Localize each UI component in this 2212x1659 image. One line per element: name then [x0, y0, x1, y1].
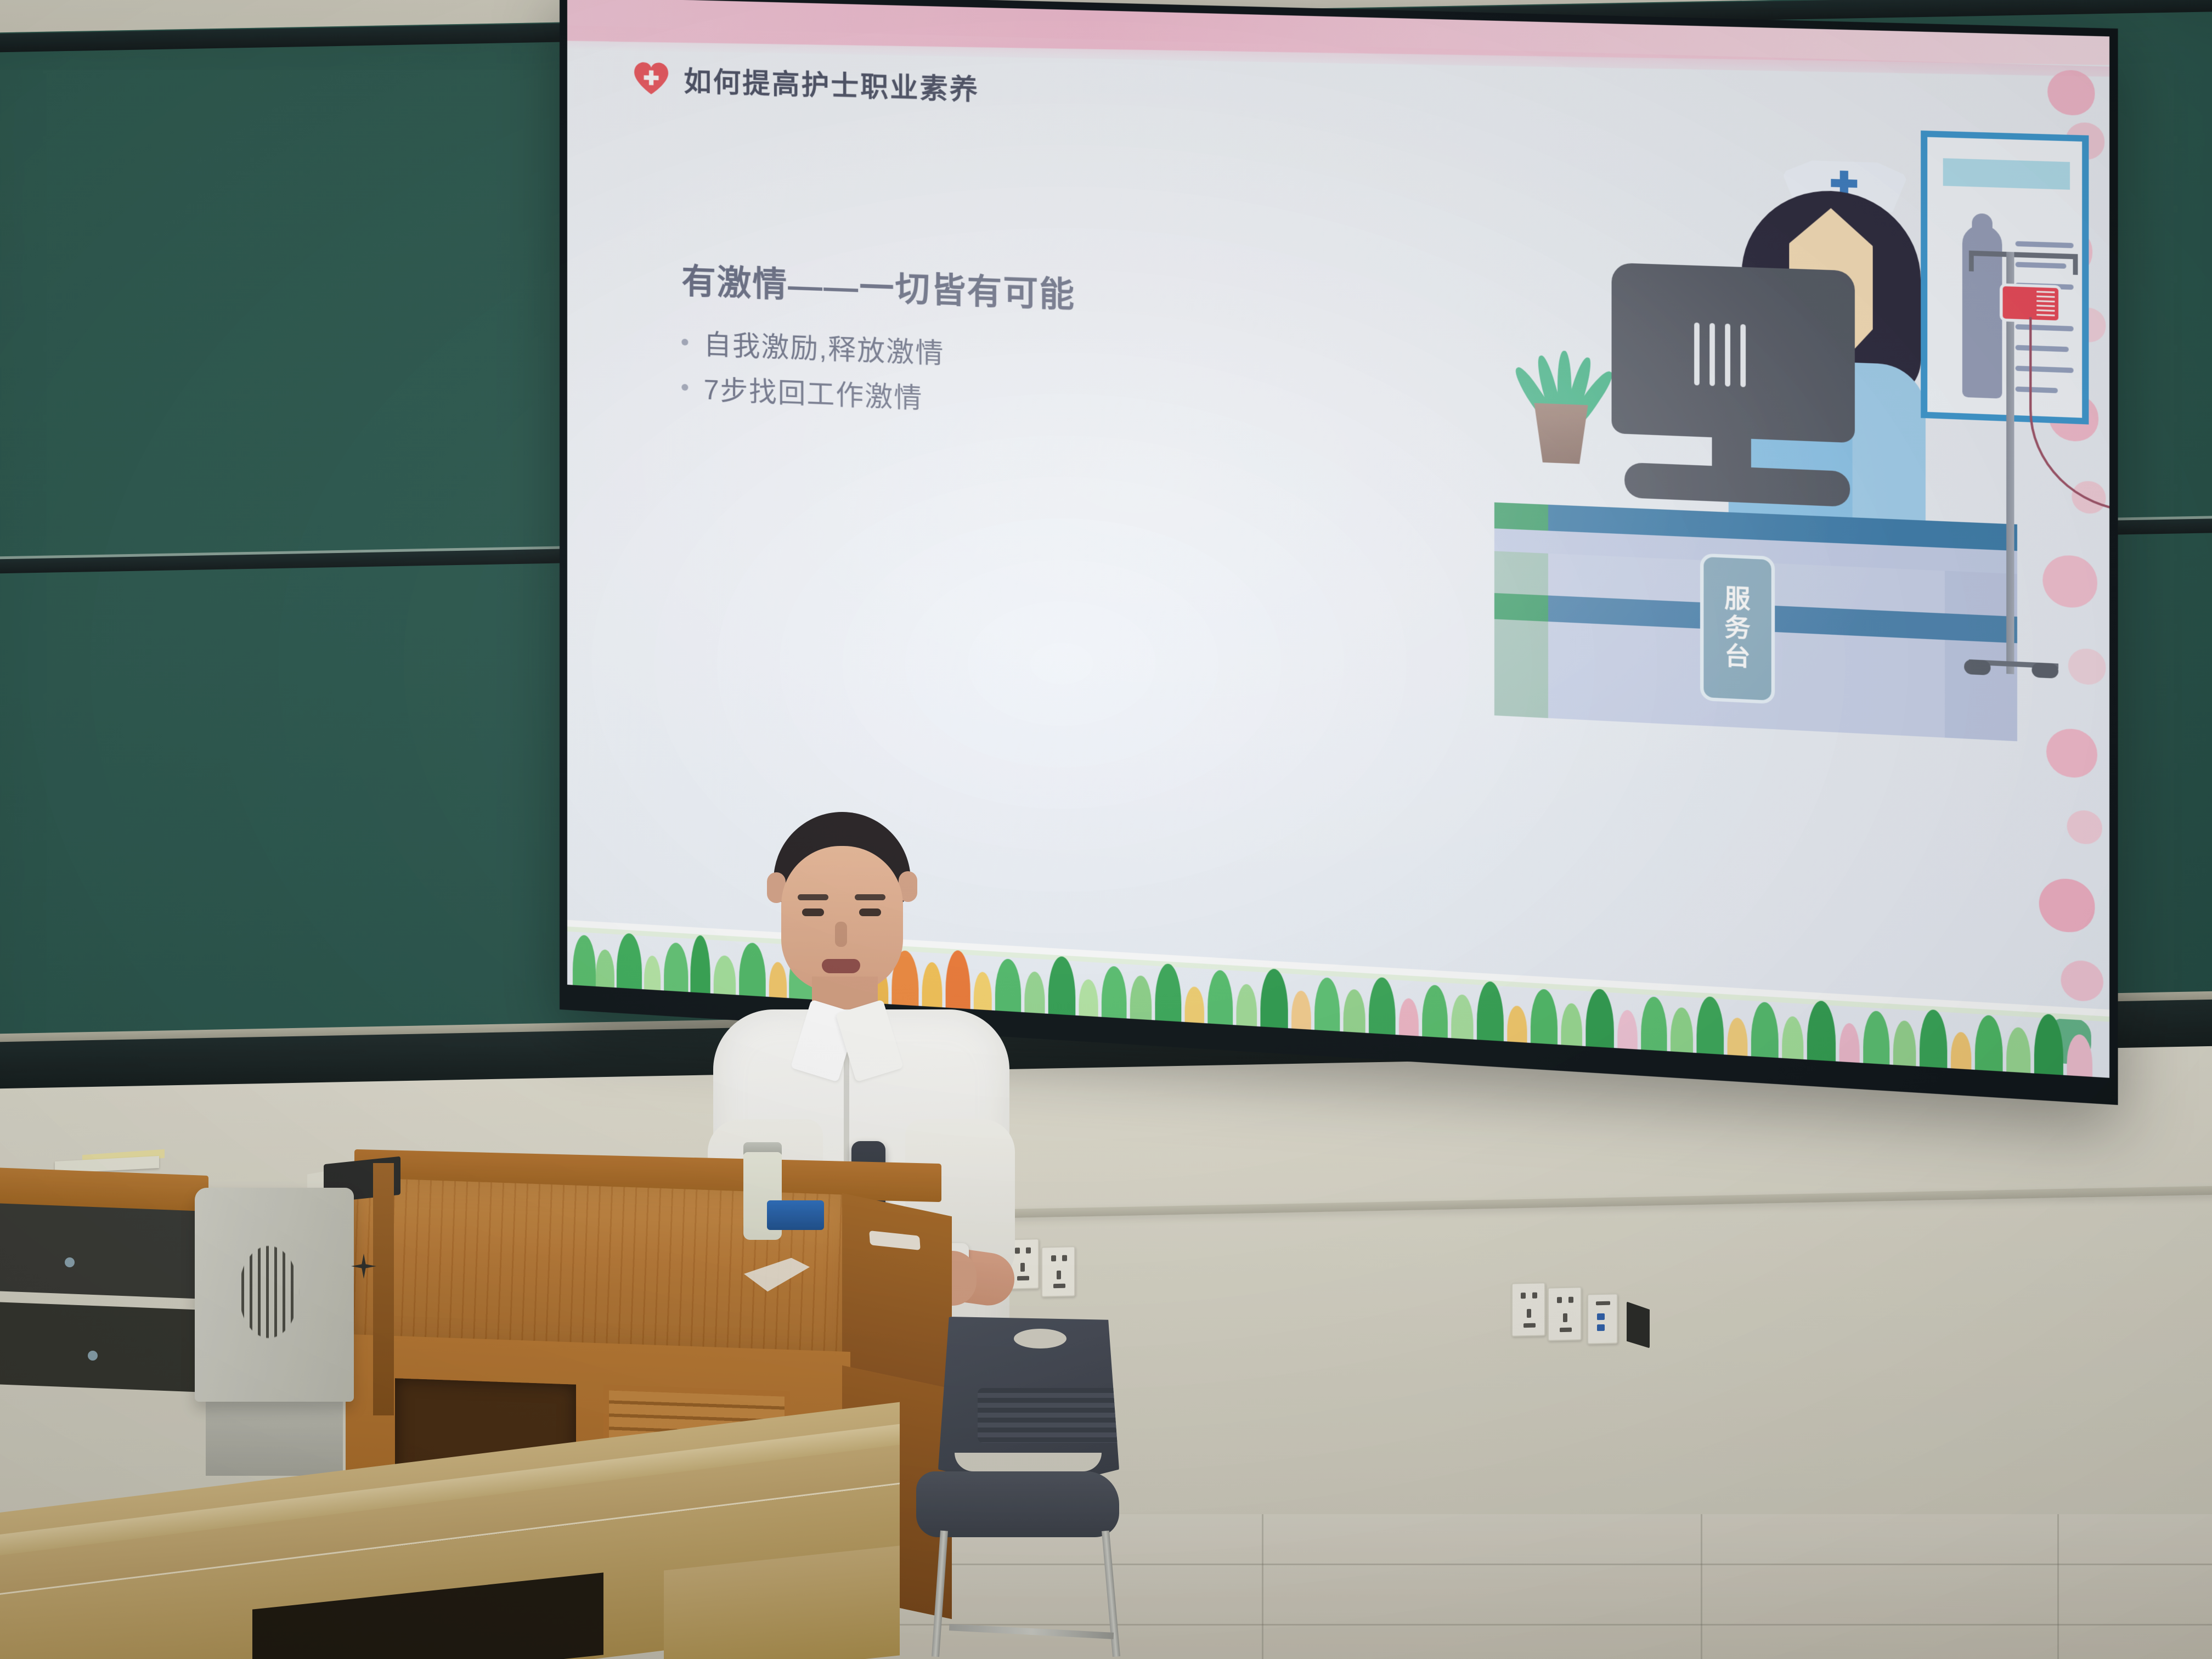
- service-desk-sign-char-2: 务: [1724, 614, 1751, 642]
- counter-accent-block: [1494, 593, 1548, 622]
- iv-stand-hook: [1969, 251, 1974, 272]
- slide-illustration: 服 务 台: [1494, 106, 2084, 707]
- poster-header-band: [1943, 158, 2070, 189]
- slide-bullet-2: 7步找回工作激情: [704, 368, 923, 416]
- wall-outlet-group-left-2[interactable]: [1041, 1246, 1075, 1297]
- chair-back-ribs: [978, 1388, 1121, 1443]
- slide-body: 有激情——一切皆有可能 自我激励,释放激情 7步找回工作激情: [681, 253, 1075, 422]
- slide-bullet-list: 自我激励,释放激情 7步找回工作激情: [681, 321, 1075, 422]
- slide-heading: 有激情——一切皆有可能: [681, 253, 1075, 317]
- service-desk-sign: 服 务 台: [1700, 553, 1775, 704]
- chair-back-gap: [955, 1453, 1102, 1471]
- wall-outlet-group-right[interactable]: [1511, 1282, 1545, 1336]
- wall-outlet-group-right-2[interactable]: [1548, 1286, 1582, 1341]
- teacher-desk-panel: [0, 1203, 208, 1299]
- nurse-cap-cross-icon: [1831, 179, 1857, 188]
- list-item: 自我激励,释放激情: [681, 321, 1075, 376]
- service-desk-sign-char-1: 服: [1724, 586, 1751, 614]
- desk-knob[interactable]: [88, 1351, 98, 1361]
- wall-data-port[interactable]: [1587, 1293, 1618, 1344]
- blood-bag: [2003, 286, 2059, 320]
- teacher-desk-panel-lower: [0, 1301, 208, 1392]
- presenter-eye: [802, 909, 824, 916]
- blood-bag-label: [2036, 291, 2055, 317]
- desktop-monitor: [1612, 263, 1855, 443]
- heart-cross-icon: [633, 61, 669, 96]
- iv-stand-wheel: [2032, 662, 2058, 679]
- iv-stand-wheel: [1964, 659, 1990, 675]
- iv-tube: [2029, 317, 2109, 513]
- slide-title: 如何提高护士职业素养: [684, 59, 979, 108]
- bullet-dot-icon: [681, 384, 688, 391]
- wooden-post: [373, 1163, 394, 1415]
- bullet-dot-icon: [681, 338, 688, 346]
- speaker-cabinet: [195, 1188, 354, 1402]
- chair-handle-hole: [1014, 1329, 1066, 1348]
- counter-face-left: [1494, 551, 1548, 718]
- desk-knob[interactable]: [65, 1257, 75, 1267]
- speaker-grille: [228, 1229, 310, 1355]
- potted-plant: [1528, 403, 1594, 464]
- iv-stand-hook: [2073, 254, 2078, 275]
- chair-seat: [916, 1471, 1119, 1537]
- slide-header: 如何提高护士职业素养: [633, 58, 979, 108]
- presenter-mouth: [822, 959, 860, 973]
- presenter-eyebrow: [798, 894, 828, 900]
- presenter-eye: [859, 909, 881, 916]
- chair-leg: [932, 1531, 948, 1657]
- blue-item-on-lectern[interactable]: [767, 1200, 824, 1230]
- stacking-chair[interactable]: [916, 1317, 1147, 1657]
- list-item: 7步找回工作激情: [681, 367, 1075, 422]
- classroom-scene: 如何提高护士职业素养 有激情——一切皆有可能 自我激励,释放激情 7步找回工作激…: [0, 0, 2212, 1659]
- service-desk-sign-char-3: 台: [1724, 644, 1751, 672]
- counter-accent-block: [1494, 503, 1548, 531]
- presenter-eyebrow: [855, 894, 885, 900]
- chair-stretcher: [949, 1624, 1114, 1639]
- presenter-nose: [835, 922, 847, 947]
- slide-bullet-1: 自我激励,释放激情: [704, 323, 945, 371]
